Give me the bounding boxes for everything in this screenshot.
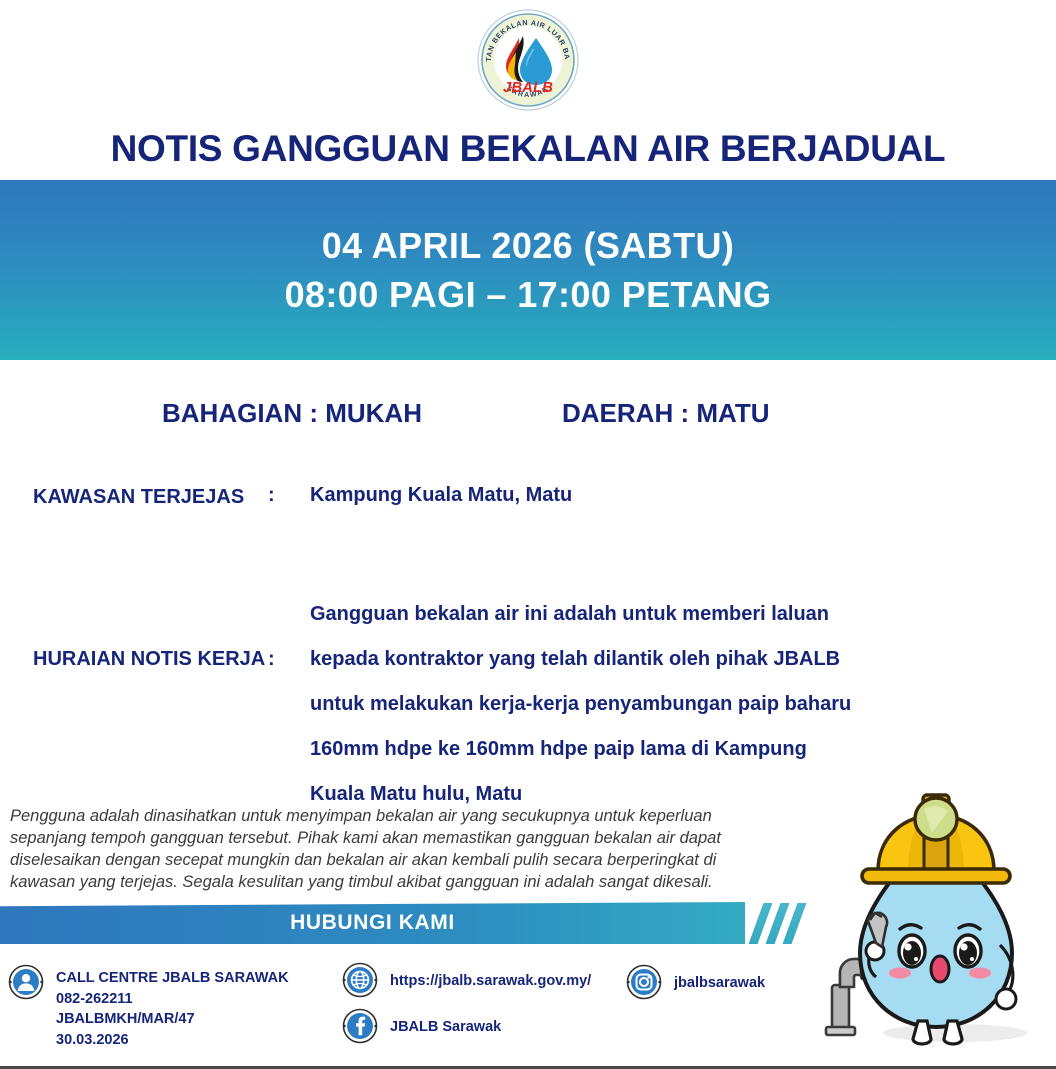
instagram-handle[interactable]: jbalbsarawak xyxy=(674,964,765,994)
person-icon xyxy=(8,964,44,1000)
call-centre-column: CALL CENTRE JBALB SARAWAK 082-262211 JBA… xyxy=(8,964,289,1060)
globe-icon xyxy=(342,962,378,998)
website-entry[interactable]: https://jbalb.sarawak.gov.my/ xyxy=(342,962,591,998)
district-label: DAERAH : MATU xyxy=(562,398,770,429)
call-centre-text: CALL CENTRE JBALB SARAWAK 082-262211 JBA… xyxy=(56,964,289,1050)
advisory-text: Pengguna adalah dinasihatkan untuk menyi… xyxy=(10,806,770,894)
instagram-entry[interactable]: jbalbsarawak xyxy=(626,964,765,1000)
svg-text:JBALB: JBALB xyxy=(503,79,553,96)
facebook-entry[interactable]: JBALB Sarawak xyxy=(342,1008,591,1044)
date-time-banner: 04 APRIL 2026 (SABTU) 08:00 PAGI – 17:00… xyxy=(0,180,1056,360)
affected-area-label: KAWASAN TERJEJAS xyxy=(0,484,268,509)
contact-banner-heading: HUBUNGI KAMI xyxy=(0,911,745,935)
affected-area-colon: : xyxy=(268,484,310,507)
notice-reference: JBALBMKH/MAR/47 xyxy=(56,1009,289,1030)
work-description-line: Gangguan bekalan air ini adalah untuk me… xyxy=(310,592,1056,637)
call-centre-phone[interactable]: 082-262211 xyxy=(56,989,289,1010)
region-row: BAHAGIAN : MUKAH DAERAH : MATU xyxy=(0,398,1056,438)
banner-slash-decoration xyxy=(752,902,820,944)
instagram-column: jbalbsarawak xyxy=(626,964,765,1010)
water-droplet-mascot xyxy=(820,771,1052,1053)
contact-banner: HUBUNGI KAMI xyxy=(0,902,820,944)
work-description-label: HURAIAN NOTIS KERJA xyxy=(0,592,268,671)
notice-page: JABATAN BEKALAN AIR LUAR BANDAR SARAWAK … xyxy=(0,0,1056,1069)
facebook-handle[interactable]: JBALB Sarawak xyxy=(390,1008,501,1038)
facebook-icon xyxy=(342,1008,378,1044)
division-label: BAHAGIAN : MUKAH xyxy=(162,398,422,429)
notice-issue-date: 30.03.2026 xyxy=(56,1030,289,1051)
notice-date: 04 APRIL 2026 (SABTU) xyxy=(322,223,735,268)
work-description-colon: : xyxy=(268,592,310,671)
affected-area-value: Kampung Kuala Matu, Matu xyxy=(310,484,1056,507)
call-centre-entry: CALL CENTRE JBALB SARAWAK 082-262211 JBA… xyxy=(8,964,289,1050)
page-title: NOTIS GANGGUAN BEKALAN AIR BERJADUAL xyxy=(0,128,1056,170)
affected-area-row: KAWASAN TERJEJAS : Kampung Kuala Matu, M… xyxy=(0,484,1056,509)
web-social-column: https://jbalb.sarawak.gov.my/ JBALB Sara… xyxy=(342,962,591,1054)
contact-details: CALL CENTRE JBALB SARAWAK 082-262211 JBA… xyxy=(0,958,900,1063)
instagram-icon xyxy=(626,964,662,1000)
work-description-line: untuk melakukan kerja-kerja penyambungan… xyxy=(310,682,1056,727)
work-description-line: 160mm hdpe ke 160mm hdpe paip lama di Ka… xyxy=(310,727,1056,772)
call-centre-title: CALL CENTRE JBALB SARAWAK xyxy=(56,968,289,989)
hard-hat-icon xyxy=(862,795,1010,883)
work-description-line: kepada kontraktor yang telah dilantik ol… xyxy=(310,637,1056,682)
notice-time: 08:00 PAGI – 17:00 PETANG xyxy=(285,272,772,317)
website-url[interactable]: https://jbalb.sarawak.gov.my/ xyxy=(390,962,591,992)
jbalb-logo: JABATAN BEKALAN AIR LUAR BANDAR SARAWAK … xyxy=(476,8,580,112)
